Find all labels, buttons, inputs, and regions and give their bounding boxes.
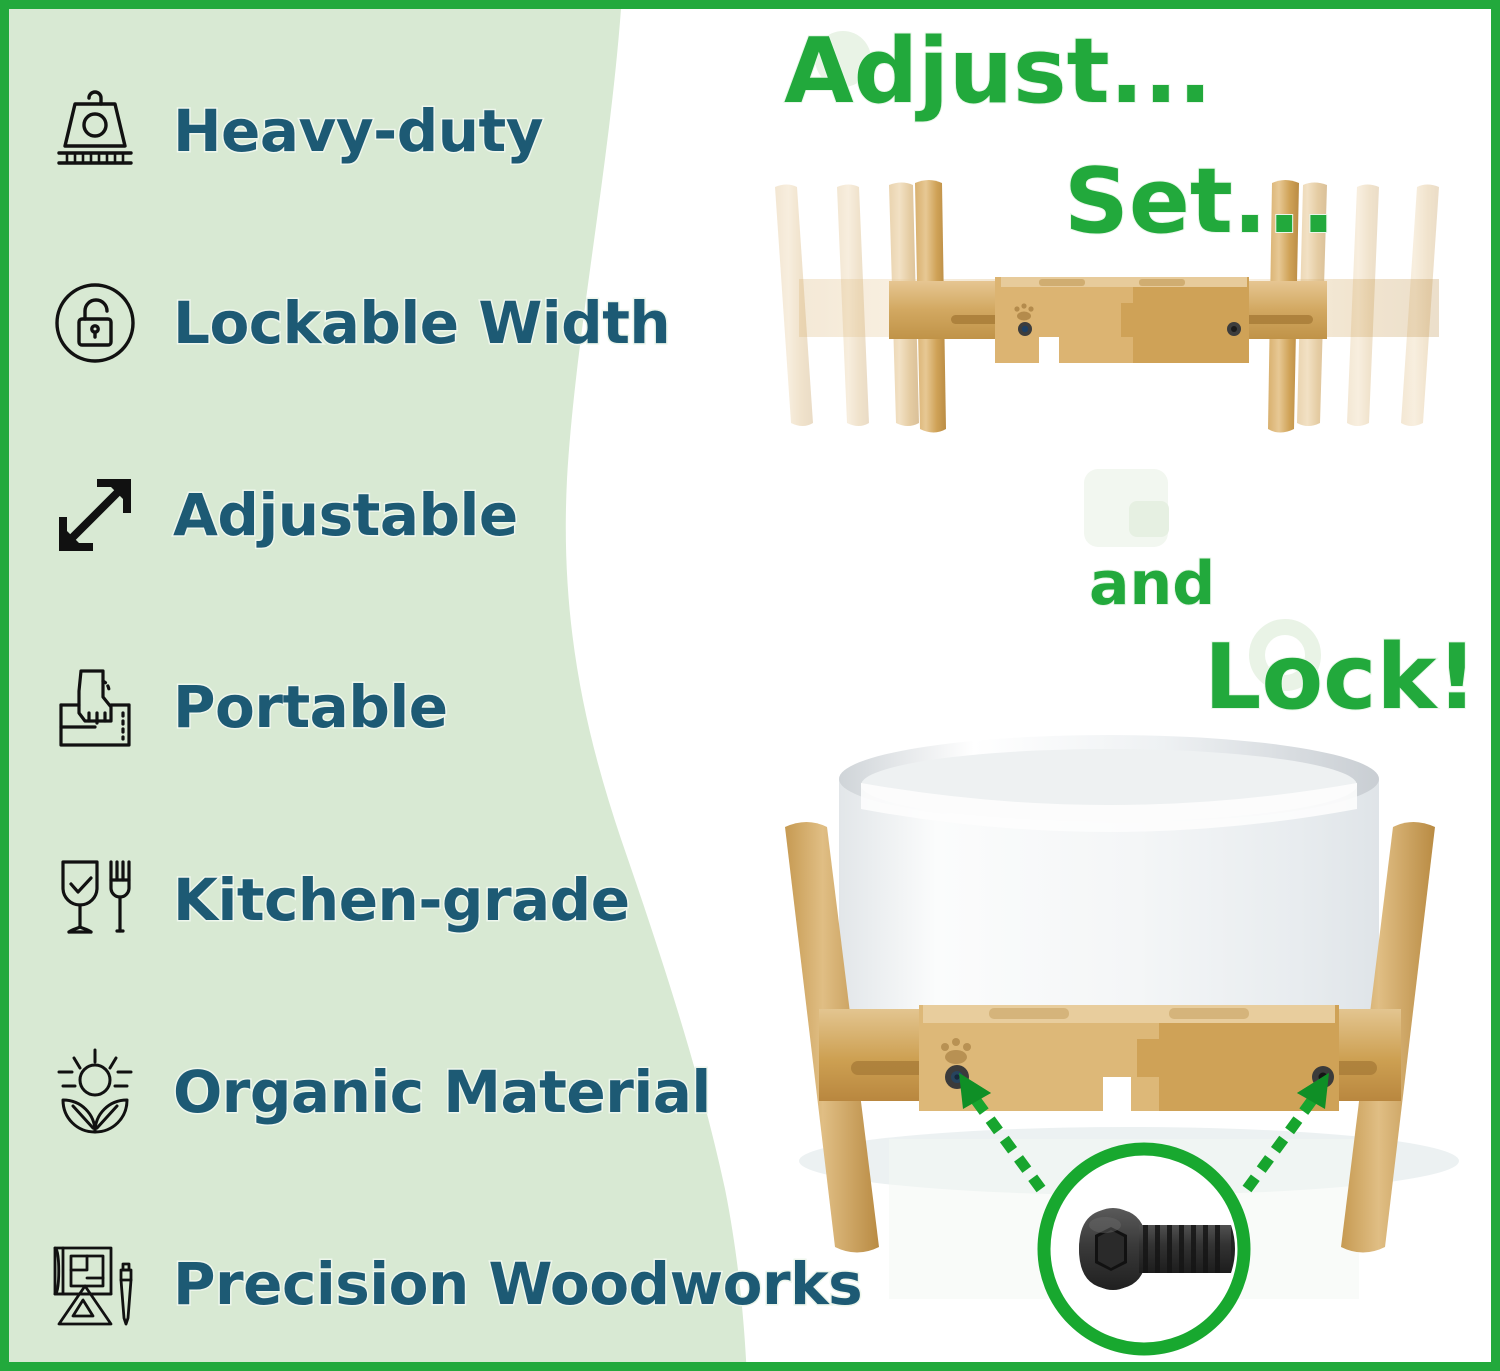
- feature-panel: Heavy-duty Lockable Width: [9, 9, 769, 1371]
- blueprint-icon: [39, 1228, 151, 1340]
- screw-callout: [929, 1049, 1359, 1371]
- feature-item-heavy-duty: Heavy-duty: [9, 35, 709, 227]
- feature-item-organic-material: Organic Material: [9, 996, 709, 1188]
- feature-label: Adjustable: [173, 486, 518, 544]
- glass-fork-icon: [39, 844, 151, 956]
- feature-list: Heavy-duty Lockable Width: [9, 9, 709, 1371]
- sun-leaves-icon: [39, 1036, 151, 1148]
- feature-item-kitchen-grade: Kitchen-grade: [9, 804, 709, 996]
- feature-item-precision-woodworks: Precision Woodworks: [9, 1188, 709, 1371]
- resize-arrow-icon: [39, 459, 151, 571]
- product-infographic: Heavy-duty Lockable Width: [0, 0, 1500, 1371]
- feature-label: Portable: [173, 678, 448, 736]
- dashed-arrow-left: [975, 1099, 1041, 1189]
- open-padlock-icon: [39, 267, 151, 379]
- feature-label: Kitchen-grade: [173, 871, 630, 929]
- headline-lock: Lock!: [1204, 633, 1477, 723]
- feature-item-lockable-width: Lockable Width: [9, 227, 709, 419]
- feature-item-adjustable: Adjustable: [9, 419, 709, 611]
- panel-background-shape: [9, 9, 769, 1371]
- hand-carry-icon: [39, 651, 151, 763]
- feature-label: Lockable Width: [173, 294, 670, 352]
- weight-icon: [39, 75, 151, 187]
- feature-label: Organic Material: [173, 1063, 711, 1121]
- feature-item-portable: Portable: [9, 611, 709, 803]
- headline-adjust: Adjust...: [784, 27, 1212, 117]
- headline-and: and: [1089, 554, 1215, 614]
- dashed-arrow-right: [1247, 1099, 1313, 1189]
- feature-label: Heavy-duty: [173, 102, 543, 160]
- headline-set: Set...: [1064, 157, 1335, 247]
